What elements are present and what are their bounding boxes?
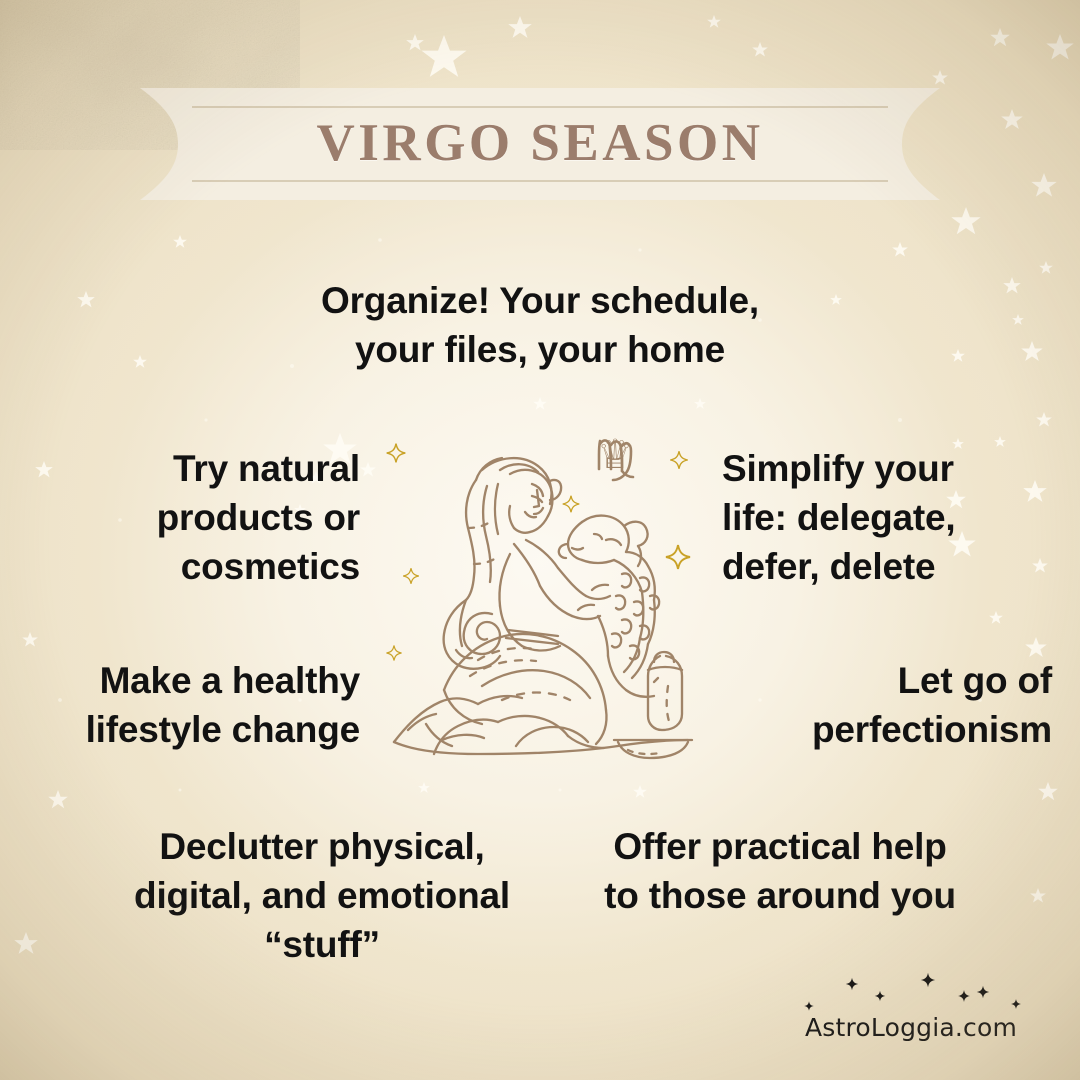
poster-canvas: VIRGO SEASON Organize! Your schedule, yo… — [0, 0, 1080, 1080]
tip-simplify: Simplify your life: delegate, defer, del… — [722, 444, 1052, 592]
tip-perfectionism: Let go of perfectionism — [722, 656, 1052, 754]
tip-natural: Try natural products or cosmetics — [30, 444, 360, 592]
virgo-maiden-illustration: ♕ — [382, 424, 700, 770]
gold-sparkles — [387, 444, 691, 661]
title-banner: VIRGO SEASON — [140, 88, 940, 200]
tip-declutter: Declutter physical, digital, and emotion… — [92, 822, 552, 970]
tip-lifestyle: Make a healthy lifestyle change — [30, 656, 360, 754]
tip-offer-help: Offer practical help to those around you — [570, 822, 990, 920]
tip-organize: Organize! Your schedule, your files, you… — [190, 276, 890, 374]
brand-watermark[interactable]: AstroLoggia.com — [780, 962, 1042, 1044]
page-title: VIRGO SEASON — [140, 113, 940, 173]
virgo-line-art-svg: ♕ — [382, 424, 700, 770]
logo-text: AstroLoggia.com — [780, 1013, 1042, 1042]
